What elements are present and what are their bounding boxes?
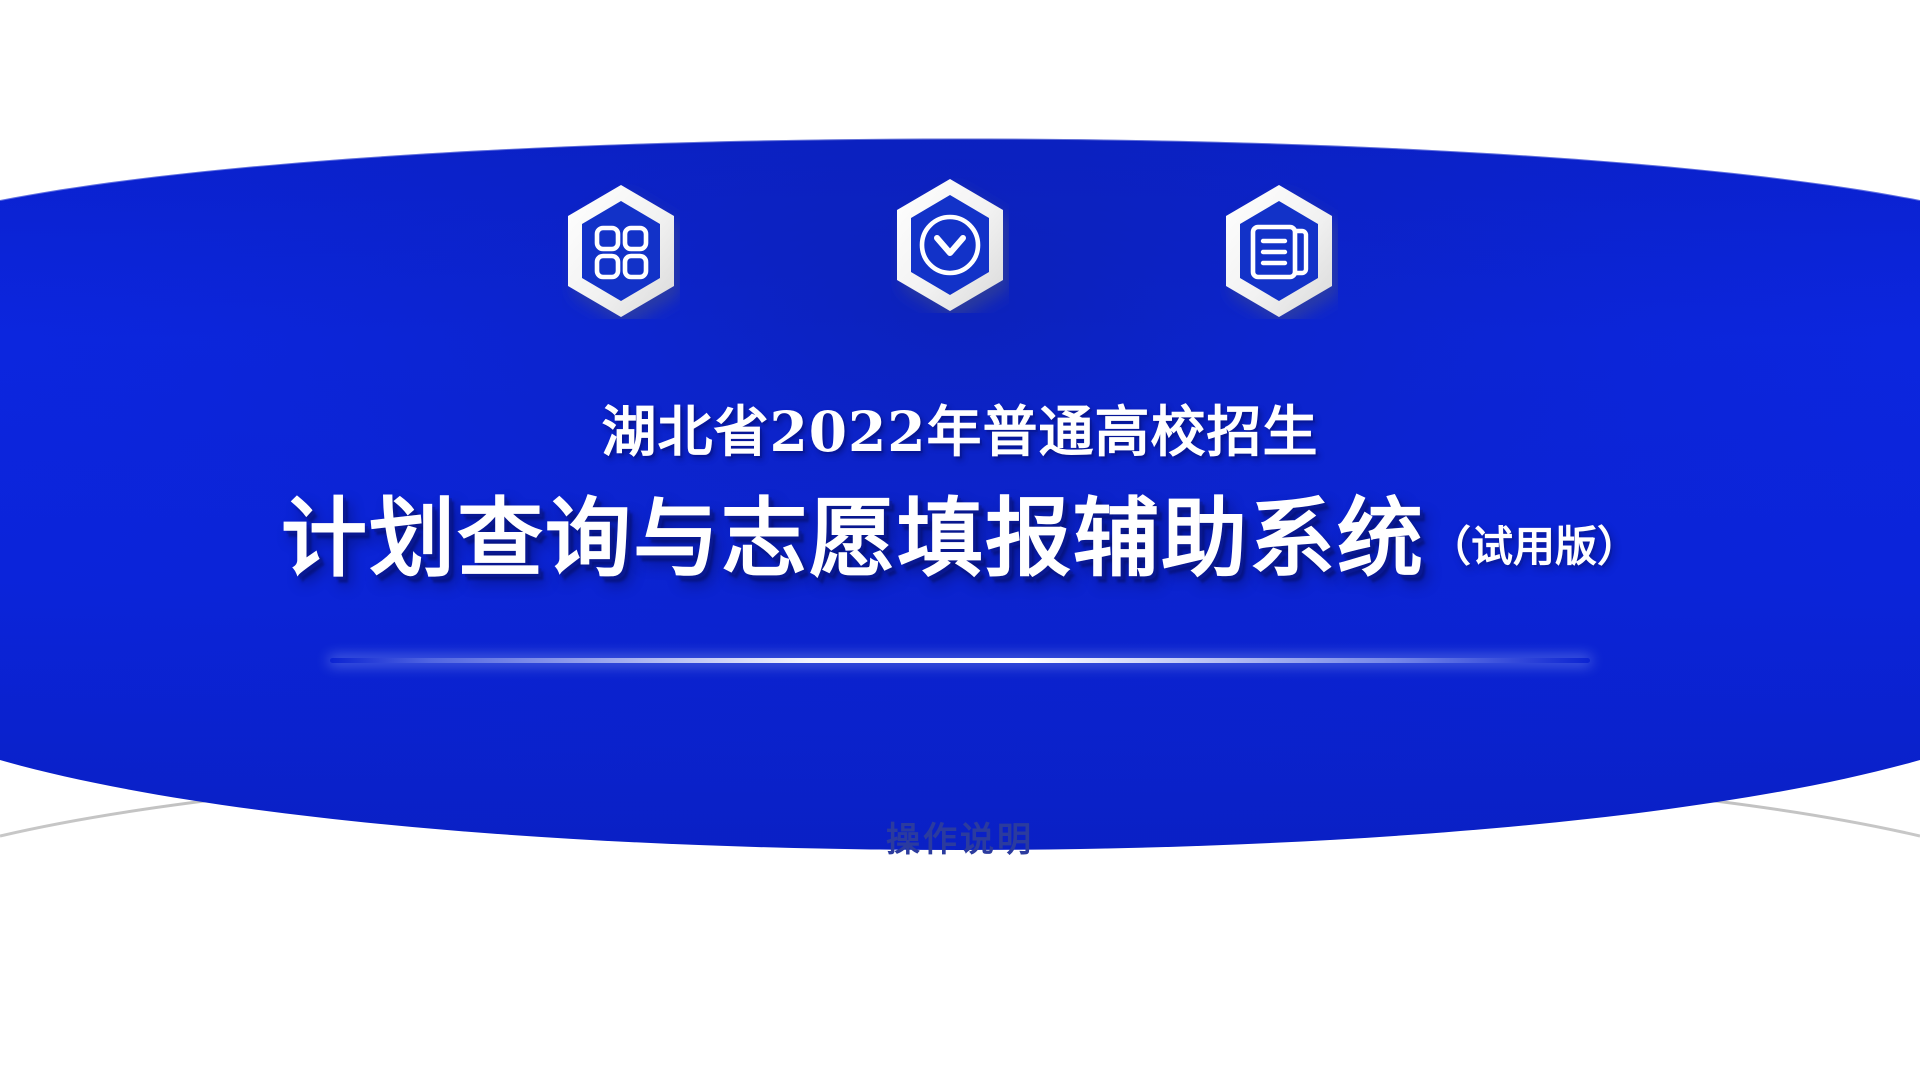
title-divider xyxy=(330,658,1590,663)
footer-caption: 操作说明 xyxy=(0,812,1920,861)
main-title-row: 计划查询与志愿填报辅助系统 （试用版） xyxy=(0,494,1920,584)
slide-subtitle: 湖北省2022年普通高校招生 xyxy=(0,400,1920,463)
title-slide: 湖北省2022年普通高校招生 计划查询与志愿填报辅助系统 （试用版） 操作说明 xyxy=(0,0,1920,1080)
page-title: 计划查询与志愿填报辅助系统 xyxy=(281,494,1425,584)
title-version-badge: （试用版） xyxy=(1429,513,1639,584)
